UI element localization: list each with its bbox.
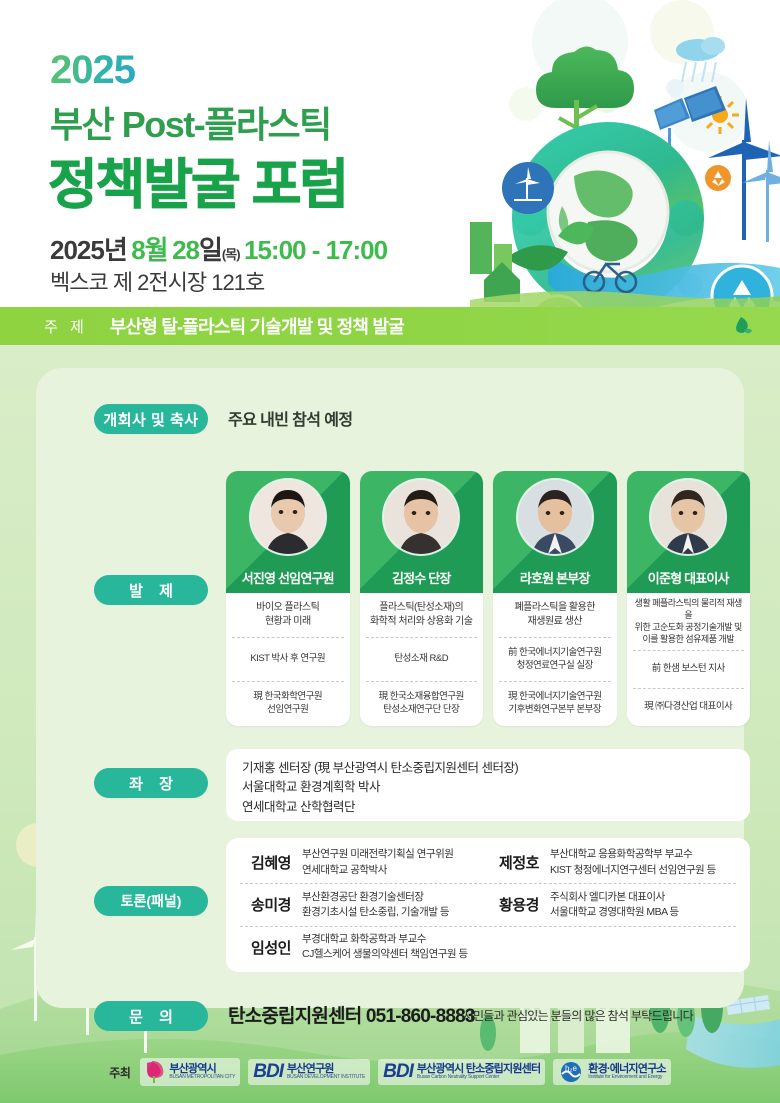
speaker-role: 前 한국에너지기술연구원 청정연료연구실 실장 bbox=[499, 637, 611, 682]
speaker-role: 前 한샘 보스턴 지사 bbox=[633, 650, 745, 688]
opening-note: 주요 내빈 참석 예정 bbox=[228, 406, 353, 430]
logo-en: BUSAN METROPOLITAN CITY bbox=[169, 1075, 235, 1080]
panelist-desc: 부산대학교 응용화학공학부 부교수 KIST 청정에너지연구센터 선임연구원 등 bbox=[550, 847, 716, 877]
panelist-cell: 임성인 부경대학교 화학공학과 부교수 CJ헬스케어 생물의약센터 책임연구원 … bbox=[240, 932, 488, 962]
logo-busan-city: 부산광역시 BUSAN METROPOLITAN CITY bbox=[140, 1058, 240, 1086]
panelist-desc: 주식회사 엘디카본 대표이사 서울대학교 경영대학원 MBA 등 bbox=[550, 890, 679, 920]
panelist-desc: 부산환경공단 환경기술센터장 환경기초시설 탄소중립, 기술개발 등 bbox=[302, 890, 449, 920]
header-zone: 2025 부산 Post-플라스틱 정책발굴 포럼 2025년 8월 28일(목… bbox=[0, 0, 780, 307]
chair-line: 서울대학교 환경계획학 박사 bbox=[242, 778, 734, 797]
speaker-topic: 폐플라스틱을 활용한 재생원료 생산 bbox=[499, 593, 611, 637]
event-datetime: 2025년 8월 28일(목) 15:00 - 17:00 bbox=[50, 230, 387, 267]
theme-text: 부산형 탈-플라스틱 기술개발 및 정책 발굴 bbox=[110, 313, 404, 339]
bdi-wordmark: BDI bbox=[253, 1061, 283, 1083]
chair-line: 기재홍 센터장 (現 부산광역시 탄소중립지원센터 센터장) bbox=[242, 759, 734, 778]
event-venue: 벡스코 제 2전시장 121호 bbox=[50, 265, 264, 297]
speaker-card-header: 김정수 단장 bbox=[360, 471, 484, 593]
logo-text: 부산광역시 탄소중립지원센터 Busan Carbon Neutrality S… bbox=[417, 1064, 540, 1081]
panelist-row: 김혜영 부산연구원 미래전략기획실 연구위원 연세대학교 공학박사 제정호 부산… bbox=[240, 842, 736, 883]
speaker-card-body: 플라스틱(탄성소재)의 화학적 처리와 상용화 기술 탄성소재 R&D 現 한국… bbox=[360, 593, 484, 726]
portrait-photo bbox=[251, 480, 325, 554]
speaker-name: 서진영 선임연구원 bbox=[226, 568, 350, 587]
panelist-name: 황용경 bbox=[488, 894, 550, 915]
label-opening-remarks: 개회사 및 축사 bbox=[94, 404, 208, 434]
label-inquiry: 문 의 bbox=[94, 1001, 208, 1031]
poster-title: 정책발굴 포럼 bbox=[48, 140, 347, 219]
date-weekday: (목) bbox=[222, 247, 240, 262]
event-time: 15:00 - 17:00 bbox=[244, 235, 387, 265]
iee-mark: h₂e bbox=[558, 1061, 584, 1083]
panelist-cell: 제정호 부산대학교 응용화학공학부 부교수 KIST 청정에너지연구센터 선임연… bbox=[488, 847, 736, 877]
main-content-panel: 개회사 및 축사 주요 내빈 참석 예정 발 제 좌 장 토론(패널) 문 의 bbox=[36, 368, 744, 1008]
speaker-role: 탄성소재 R&D bbox=[366, 637, 478, 682]
speaker-topic: 생활 폐플라스틱의 물리적 재생을 위한 고순도화 공정기술개발 및 이를 활용… bbox=[633, 593, 745, 650]
panelist-row: 송미경 부산환경공단 환경기술센터장 환경기초시설 탄소중립, 기술개발 등 황… bbox=[240, 883, 736, 925]
portrait-photo bbox=[518, 480, 592, 554]
panelist-cell: 황용경 주식회사 엘디카본 대표이사 서울대학교 경영대학원 MBA 등 bbox=[488, 890, 736, 920]
theme-label: 주 제 bbox=[44, 316, 88, 337]
speaker-role: KIST 박사 후 연구원 bbox=[232, 637, 344, 682]
poster-year: 2025 bbox=[50, 48, 135, 93]
wind-badge-icon bbox=[502, 162, 554, 214]
svg-text:h₂e: h₂e bbox=[565, 1064, 578, 1073]
footer-logos: 주최 부산광역시 BUSAN METROPOLITAN CITY BDI 부산연… bbox=[0, 1041, 780, 1103]
speaker-card: 이준형 대표이사 생활 폐플라스틱의 물리적 재생을 위한 고순도화 공정기술개… bbox=[627, 471, 751, 726]
panelist-cell: 김혜영 부산연구원 미래전략기획실 연구위원 연세대학교 공학박사 bbox=[240, 847, 488, 877]
speaker-card-list: 서진영 선임연구원 바이오 플라스틱 현황과 미래 KIST 박사 후 연구원 … bbox=[226, 471, 750, 726]
logo-bdi-carbon-neutrality: BDI 부산광역시 탄소중립지원센터 Busan Carbon Neutrali… bbox=[378, 1059, 545, 1085]
label-chairperson: 좌 장 bbox=[94, 768, 208, 798]
speaker-card: 서진영 선임연구원 바이오 플라스틱 현황과 미래 KIST 박사 후 연구원 … bbox=[226, 471, 350, 726]
host-label: 주최 bbox=[109, 1064, 130, 1081]
date-day-unit: 일 bbox=[199, 235, 222, 265]
poster-root: 2025 부산 Post-플라스틱 정책발굴 포럼 2025년 8월 28일(목… bbox=[0, 0, 780, 1103]
panelist-name: 김혜영 bbox=[240, 852, 302, 873]
speaker-card: 김정수 단장 플라스틱(탄성소재)의 화학적 처리와 상용화 기술 탄성소재 R… bbox=[360, 471, 484, 726]
leaf-icon bbox=[730, 316, 752, 336]
avatar bbox=[384, 480, 458, 554]
panelist-cell: 송미경 부산환경공단 환경기술센터장 환경기초시설 탄소중립, 기술개발 등 bbox=[240, 890, 488, 920]
date-month: 8월 bbox=[131, 235, 167, 265]
label-panel-discussion: 토론(패널) bbox=[94, 886, 208, 916]
inquiry-note: * 시민들과 관심있는 분들의 많은 참석 부탁드립니다 bbox=[456, 1007, 693, 1024]
speaker-affiliation: 現 ㈜다경산업 대표이사 bbox=[633, 688, 745, 726]
panelist-desc: 부산연구원 미래전략기획실 연구위원 연세대학교 공학박사 bbox=[302, 847, 453, 877]
speaker-card-body: 생활 폐플라스틱의 물리적 재생을 위한 고순도화 공정기술개발 및 이를 활용… bbox=[627, 593, 751, 726]
avatar bbox=[518, 480, 592, 554]
bdi-wordmark: BDI bbox=[383, 1061, 413, 1083]
inquiry-contact: 탄소중립지원센터 051-860-8883 bbox=[228, 1001, 475, 1028]
speaker-affiliation: 現 한국에너지기술연구원 기후변화연구본부 본부장 bbox=[499, 681, 611, 726]
avatar bbox=[651, 480, 725, 554]
speaker-card: 라호원 본부장 폐플라스틱을 활용한 재생원료 생산 前 한국에너지기술연구원 … bbox=[493, 471, 617, 726]
logo-en: BUSAN DEVELOPMENT INSTITUTE bbox=[287, 1075, 365, 1080]
speaker-affiliation: 現 한국화학연구원 선임연구원 bbox=[232, 681, 344, 726]
date-year: 2025년 bbox=[50, 235, 127, 265]
speaker-card-header: 이준형 대표이사 bbox=[627, 471, 751, 593]
panelist-name: 임성인 bbox=[240, 937, 302, 958]
busan-city-mark bbox=[145, 1060, 165, 1084]
label-presentation: 발 제 bbox=[94, 575, 208, 605]
panelist-name: 제정호 bbox=[488, 852, 550, 873]
chairperson-box: 기재홍 센터장 (現 부산광역시 탄소중립지원센터 센터장) 서울대학교 환경계… bbox=[226, 749, 750, 821]
speaker-topic: 플라스틱(탄성소재)의 화학적 처리와 상용화 기술 bbox=[366, 593, 478, 637]
speaker-card-header: 서진영 선임연구원 bbox=[226, 471, 350, 593]
logo-bdi-busan-development: BDI 부산연구원 BUSAN DEVELOPMENT INSTITUTE bbox=[248, 1059, 370, 1085]
logo-text: 환경·에너지연구소 Institute for Environment and … bbox=[588, 1064, 665, 1081]
date-day: 28 bbox=[172, 235, 199, 265]
speaker-card-header: 라호원 본부장 bbox=[493, 471, 617, 593]
logo-iee: h₂e 환경·에너지연구소 Institute for Environment … bbox=[553, 1059, 670, 1085]
portrait-photo bbox=[651, 480, 725, 554]
eco-illustration bbox=[470, 0, 780, 307]
panelist-desc: 부경대학교 화학공학과 부교수 CJ헬스케어 생물의약센터 책임연구원 등 bbox=[302, 932, 468, 962]
speaker-card-body: 폐플라스틱을 활용한 재생원료 생산 前 한국에너지기술연구원 청정연료연구실 … bbox=[493, 593, 617, 726]
logo-en: Institute for Environment and Energy bbox=[588, 1075, 665, 1080]
logo-text: 부산연구원 BUSAN DEVELOPMENT INSTITUTE bbox=[287, 1064, 365, 1081]
theme-bar: 주 제 부산형 탈-플라스틱 기술개발 및 정책 발굴 bbox=[0, 307, 780, 345]
chair-line: 연세대학교 산학협력단 bbox=[242, 798, 734, 817]
portrait-photo bbox=[384, 480, 458, 554]
recycle-small-icon bbox=[705, 165, 731, 191]
speaker-name: 김정수 단장 bbox=[360, 568, 484, 587]
body-zone: 개회사 및 축사 주요 내빈 참석 예정 발 제 좌 장 토론(패널) 문 의 bbox=[0, 345, 780, 1103]
panelist-box: 김혜영 부산연구원 미래전략기획실 연구위원 연세대학교 공학박사 제정호 부산… bbox=[226, 838, 750, 972]
speaker-topic: 바이오 플라스틱 현황과 미래 bbox=[232, 593, 344, 637]
logo-text: 부산광역시 BUSAN METROPOLITAN CITY bbox=[169, 1064, 235, 1081]
speaker-card-body: 바이오 플라스틱 현황과 미래 KIST 박사 후 연구원 現 한국화학연구원 … bbox=[226, 593, 350, 726]
speaker-name: 라호원 본부장 bbox=[493, 568, 617, 587]
speaker-name: 이준형 대표이사 bbox=[627, 568, 751, 587]
panelist-name: 송미경 bbox=[240, 894, 302, 915]
speaker-affiliation: 現 한국소재융합연구원 탄성소재연구단 단장 bbox=[366, 681, 478, 726]
panelist-row: 임성인 부경대학교 화학공학과 부교수 CJ헬스케어 생물의약센터 책임연구원 … bbox=[240, 926, 736, 968]
logo-en: Busan Carbon Neutrality Support Center bbox=[417, 1075, 540, 1080]
avatar bbox=[251, 480, 325, 554]
